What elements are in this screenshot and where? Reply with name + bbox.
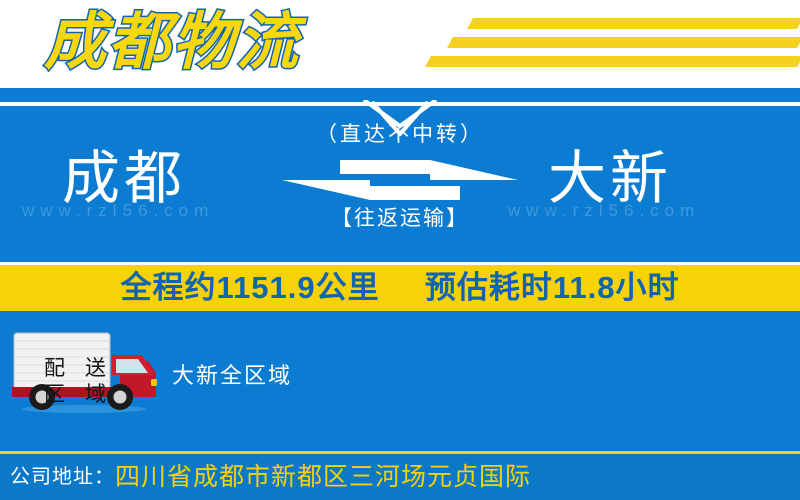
- route-row: 成都 （直达不中转） 【往返运输】 大新: [0, 118, 800, 238]
- duration-text: 预估耗时11.8小时: [425, 270, 680, 305]
- header-band: 成都物流: [0, 0, 800, 88]
- metrics-banner: 全程约1151.9公里 预估耗时11.8小时: [0, 265, 800, 311]
- page-title: 成都物流: [44, 4, 300, 82]
- metrics-text: 全程约1151.9公里 预估耗时11.8小时: [121, 265, 680, 311]
- roundtrip-note: 【往返运输】: [262, 204, 538, 234]
- stripe-2: [447, 37, 800, 48]
- box-char-4: 域: [85, 382, 106, 407]
- address-label: 公司地址：: [0, 454, 115, 500]
- delivery-panel: 配 送 区 域 大新全区域 www.rzl56.com www.rzl56.co…: [0, 311, 800, 451]
- box-char-3: 区: [44, 382, 65, 407]
- route-panel: 成都 （直达不中转） 【往返运输】 大新 www.rzl56.com www.r…: [0, 88, 800, 262]
- logistics-poster: 成都物流 成都 （直达不中转）: [0, 0, 800, 500]
- coverage-area-text: 大新全区域: [172, 361, 292, 391]
- decorative-stripes: [418, 18, 800, 78]
- delivery-truck-icon: 配 送 区 域: [8, 329, 160, 415]
- address-value: 四川省成都市新都区三河场元贞国际: [115, 454, 531, 500]
- truck-box-label: 配 送 区 域: [34, 355, 116, 407]
- origin-city: 成都: [62, 136, 186, 222]
- route-middle: （直达不中转） 【往返运输】: [262, 118, 538, 234]
- bidirectional-arrow-icon: [280, 158, 520, 202]
- distance-text: 全程约1151.9公里: [121, 270, 380, 305]
- stripe-1: [467, 18, 800, 29]
- box-char-2: 送: [85, 356, 106, 381]
- address-bar: 公司地址： 四川省成都市新都区三河场元贞国际: [0, 451, 800, 500]
- box-char-1: 配: [44, 356, 65, 381]
- stripe-3: [425, 56, 800, 67]
- direct-note: （直达不中转）: [262, 118, 538, 152]
- destination-city: 大新: [548, 136, 672, 222]
